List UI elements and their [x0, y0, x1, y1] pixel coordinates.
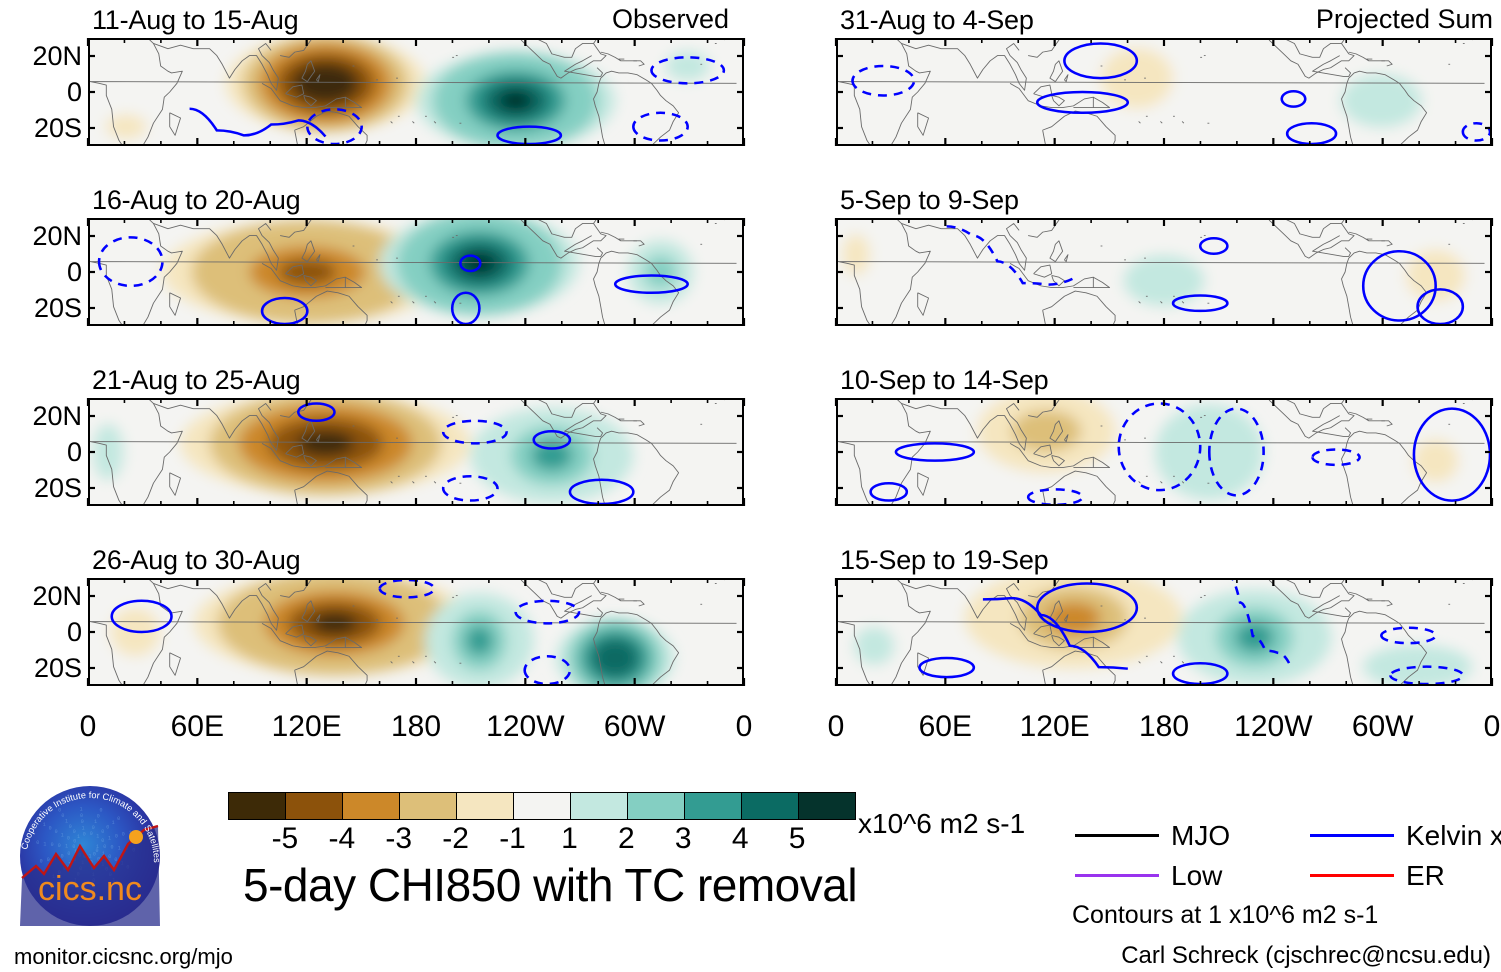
svg-text:0: 0: [103, 844, 106, 850]
svg-text:0: 0: [67, 836, 70, 842]
svg-text:0: 0: [92, 825, 95, 831]
svg-text:0: 0: [40, 859, 43, 865]
svg-text:1: 1: [108, 836, 111, 842]
colorbar-tick-label: -5: [255, 824, 315, 854]
svg-text:0: 0: [106, 824, 109, 830]
y-axis-tick-label: 20N: [2, 43, 82, 70]
colorbar-tick-label: 3: [653, 824, 713, 854]
y-axis-tick-label: 0: [2, 259, 82, 286]
map-panel: [88, 578, 744, 686]
svg-text:0: 0: [101, 838, 104, 844]
colorbar-segment: [229, 793, 286, 819]
x-axis-tick-label: 0: [28, 712, 148, 742]
svg-text:0: 0: [83, 831, 86, 837]
x-axis-tick-label: 60W: [1323, 712, 1443, 742]
map-panel: [836, 398, 1492, 506]
main-title: 5-day CHI850 with TC removal: [243, 862, 857, 908]
svg-text:0: 0: [73, 829, 76, 835]
svg-text:0: 0: [111, 845, 114, 851]
panel-title: 5-Sep to 9-Sep: [840, 187, 1019, 214]
colorbar-segment: [400, 793, 457, 819]
colorbar-segment: [514, 793, 571, 819]
map-panel: [836, 218, 1492, 326]
svg-text:1: 1: [94, 819, 97, 825]
svg-text:1: 1: [43, 822, 46, 828]
site-url: monitor.cicsnc.org/mjo: [14, 946, 233, 968]
svg-text:1: 1: [43, 841, 46, 847]
y-axis-tick-label: 0: [2, 619, 82, 646]
svg-text:0: 0: [80, 813, 83, 819]
colorbar-segment: [457, 793, 514, 819]
svg-text:0: 0: [61, 853, 64, 859]
svg-text:0: 0: [90, 831, 93, 837]
credit-text: Carl Schreck (cjschrec@ncsu.edu): [1121, 944, 1491, 968]
svg-text:0: 0: [97, 813, 100, 819]
x-axis-tick-label: 60E: [137, 712, 257, 742]
colorbar: [228, 792, 856, 820]
colorbar-tick-label: 5: [767, 824, 827, 854]
legend-line-swatch: [1310, 834, 1394, 837]
svg-text:1: 1: [112, 820, 115, 826]
svg-text:0: 0: [47, 857, 50, 863]
svg-text:0: 0: [67, 851, 70, 857]
legend-label: ER: [1406, 862, 1445, 890]
legend-line-swatch: [1075, 834, 1159, 837]
legend-label: Kelvin x2: [1406, 822, 1501, 850]
svg-text:0: 0: [93, 851, 96, 857]
map-panel: [88, 218, 744, 326]
y-axis-tick-label: 20S: [2, 295, 82, 322]
svg-text:1: 1: [80, 807, 83, 813]
x-axis-tick-label: 60E: [885, 712, 1005, 742]
panel-title: 11-Aug to 15-Aug: [92, 7, 298, 34]
svg-text:0: 0: [122, 832, 125, 838]
svg-text:0: 0: [58, 843, 61, 849]
svg-text:1: 1: [61, 833, 64, 839]
colorbar-tick-label: -2: [426, 824, 486, 854]
colorbar-tick-label: -3: [369, 824, 429, 854]
svg-text:0: 0: [96, 848, 99, 854]
svg-text:0: 0: [55, 829, 58, 835]
column-header-projected-sum: Projected Sum: [1316, 6, 1493, 33]
colorbar-segment: [628, 793, 685, 819]
svg-text:0: 0: [61, 813, 64, 819]
x-axis-tick-label: 60W: [575, 712, 695, 742]
colorbar-tick-label: -1: [483, 824, 543, 854]
cics-nc-logo: 1001001001001001001001001001001001001001…: [10, 782, 180, 930]
svg-text:1: 1: [96, 833, 99, 839]
svg-text:0: 0: [115, 834, 118, 840]
y-axis-tick-label: 0: [2, 79, 82, 106]
x-axis-tick-label: 180: [356, 712, 476, 742]
x-axis-tick-label: 120W: [465, 712, 585, 742]
x-axis-tick-label: 120E: [995, 712, 1115, 742]
panel-title: 10-Sep to 14-Sep: [840, 367, 1048, 394]
x-axis-tick-label: 0: [776, 712, 896, 742]
svg-text:1: 1: [82, 825, 85, 831]
colorbar-units-label: x10^6 m2 s-1: [858, 810, 1025, 838]
y-axis-tick-label: 20N: [2, 223, 82, 250]
colorbar-segment: [799, 793, 855, 819]
colorbar-segment: [742, 793, 799, 819]
svg-text:0: 0: [36, 840, 39, 846]
svg-text:0: 0: [69, 824, 72, 830]
colorbar-segment: [286, 793, 343, 819]
panel-title: 16-Aug to 20-Aug: [92, 187, 300, 214]
svg-text:0: 0: [73, 839, 76, 845]
map-panel: [88, 38, 744, 146]
x-axis-tick-label: 0: [1432, 712, 1501, 742]
svg-text:1: 1: [77, 834, 80, 840]
svg-text:0: 0: [81, 819, 84, 825]
y-axis-tick-label: 20S: [2, 475, 82, 502]
colorbar-segment: [685, 793, 742, 819]
svg-text:0: 0: [100, 808, 103, 814]
column-header-observed: Observed: [612, 6, 729, 33]
map-panel: [836, 38, 1492, 146]
panel-title: 15-Sep to 19-Sep: [840, 547, 1048, 574]
contour-interval-note: Contours at 1 x10^6 m2 s-1: [1072, 903, 1378, 928]
panel-title: 21-Aug to 25-Aug: [92, 367, 300, 394]
svg-text:0: 0: [117, 816, 120, 822]
colorbar-tick-label: 4: [710, 824, 770, 854]
legend-line-swatch: [1310, 874, 1394, 877]
panel-title: 31-Aug to 4-Sep: [840, 7, 1034, 34]
svg-text:1: 1: [65, 819, 68, 825]
y-axis-tick-label: 20N: [2, 583, 82, 610]
x-axis-tick-label: 180: [1104, 712, 1224, 742]
svg-text:0: 0: [51, 842, 54, 848]
x-axis-tick-label: 120W: [1213, 712, 1333, 742]
svg-text:1: 1: [65, 844, 68, 850]
svg-text:0: 0: [49, 826, 52, 832]
legend-line-swatch: [1075, 874, 1159, 877]
svg-text:cics.nc: cics.nc: [38, 870, 142, 908]
panel-title: 26-Aug to 30-Aug: [92, 547, 300, 574]
svg-text:0: 0: [101, 829, 104, 835]
legend-label: Low: [1171, 862, 1222, 890]
y-axis-tick-label: 0: [2, 439, 82, 466]
svg-text:0: 0: [72, 844, 75, 850]
svg-text:1: 1: [118, 845, 121, 851]
colorbar-tick-label: 1: [539, 824, 599, 854]
colorbar-segment: [571, 793, 628, 819]
y-axis-tick-label: 20S: [2, 115, 82, 142]
x-axis-tick-label: 120E: [247, 712, 367, 742]
colorbar-segment: [343, 793, 400, 819]
y-axis-tick-label: 20N: [2, 403, 82, 430]
map-panel: [836, 578, 1492, 686]
colorbar-tick-label: 2: [596, 824, 656, 854]
y-axis-tick-label: 20S: [2, 655, 82, 682]
map-panel: [88, 398, 744, 506]
svg-text:0: 0: [108, 854, 111, 860]
colorbar-tick-label: -4: [312, 824, 372, 854]
legend-label: MJO: [1171, 822, 1230, 850]
